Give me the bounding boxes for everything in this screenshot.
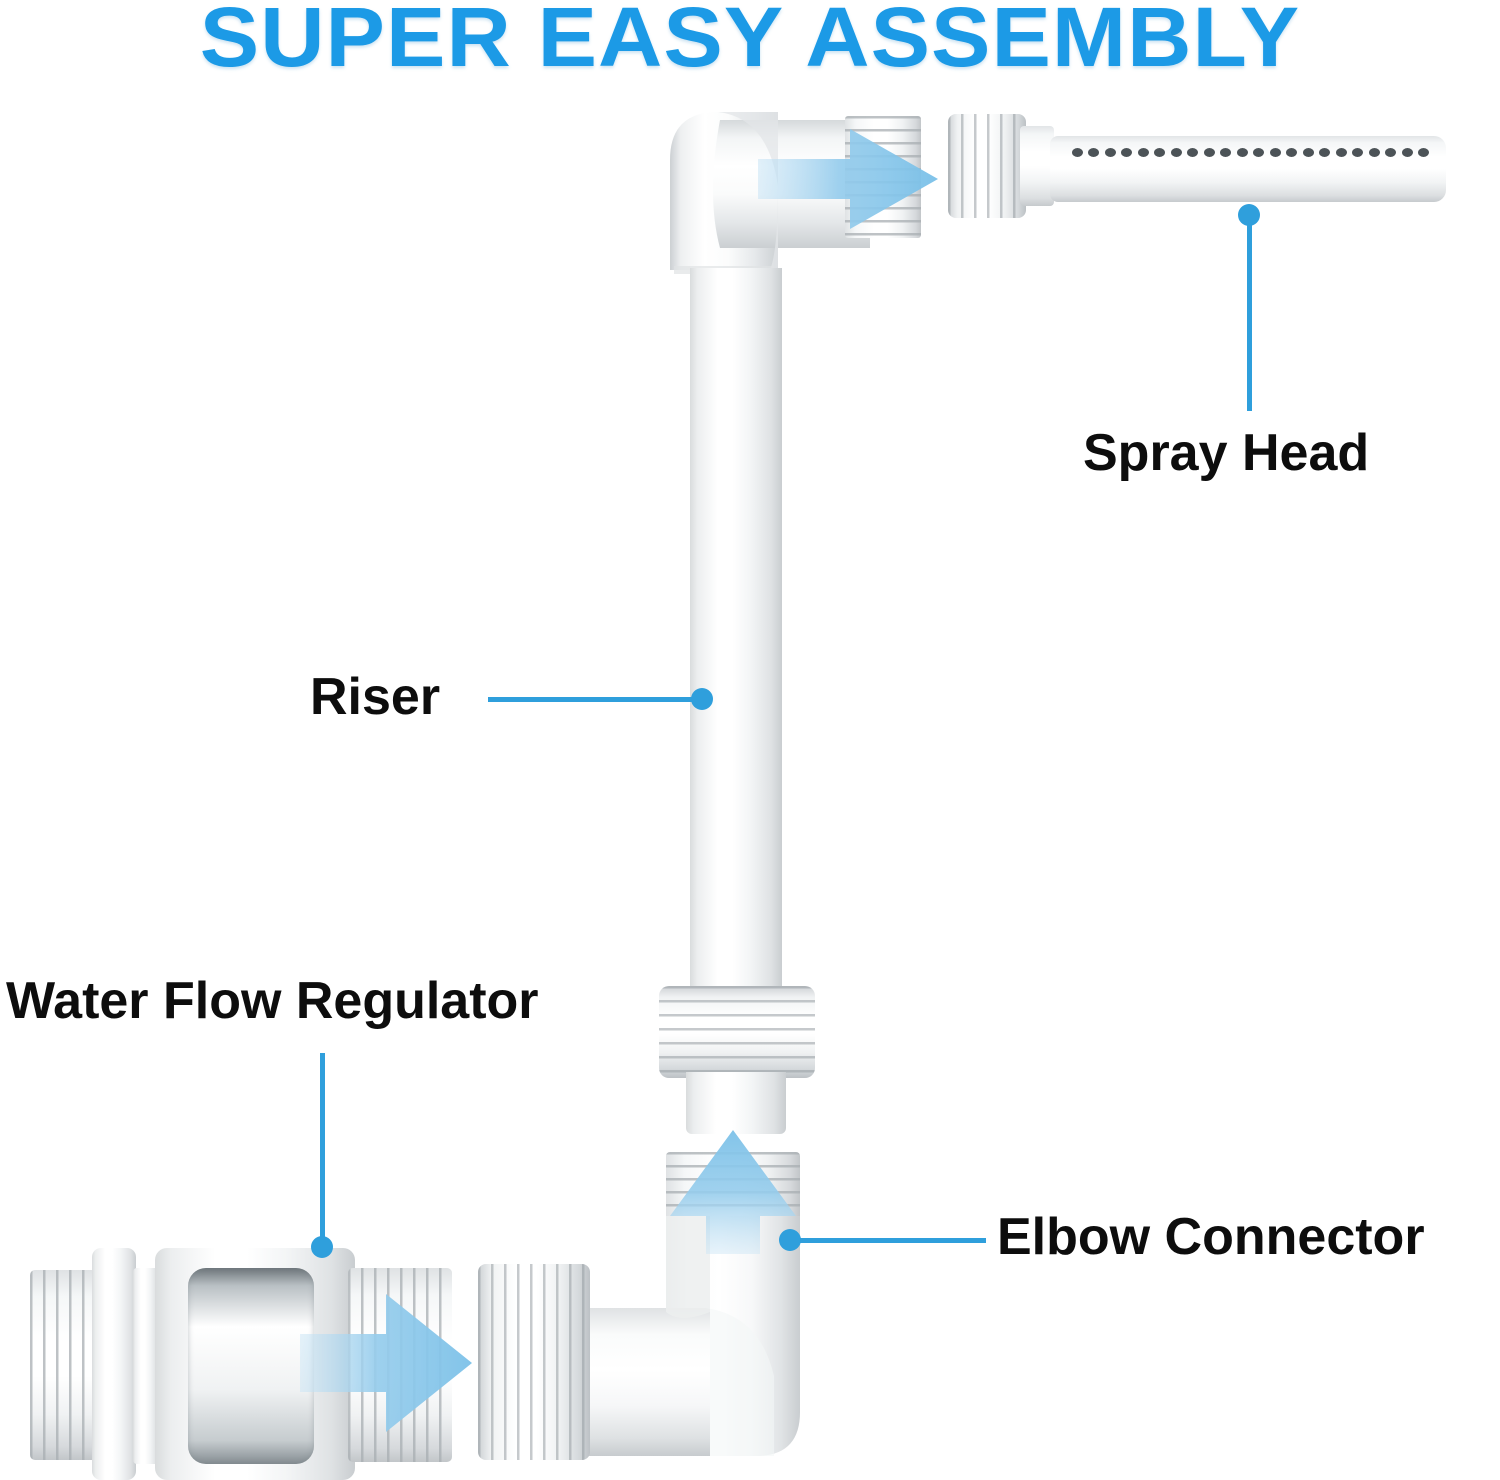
riser-pipe — [690, 268, 782, 990]
elbow-leader-dot — [779, 1229, 801, 1251]
regulator-window — [188, 1268, 314, 1464]
bottom-elbow-coupling-nut — [478, 1264, 590, 1460]
assembly-diagram: SUPER EASY ASSEMBLY — [0, 0, 1500, 1480]
spray-hole — [1237, 148, 1248, 157]
spray-hole — [1336, 148, 1347, 157]
spray-head-bar — [1050, 136, 1446, 202]
spray-hole — [1303, 148, 1314, 157]
riser-lower-stub — [686, 1072, 786, 1134]
spray-head-collar — [1020, 126, 1054, 206]
spray-head-coupling-nut — [948, 114, 1026, 218]
spray-hole — [1385, 148, 1396, 157]
spray-hole — [1352, 148, 1363, 157]
flow-arrow-up-riser — [670, 1130, 796, 1254]
label-spray-head: Spray Head — [1083, 424, 1369, 482]
spray-hole — [1171, 148, 1182, 157]
spray-head-leader-line — [1247, 215, 1252, 411]
regulator-leader-line — [320, 1053, 325, 1243]
spray-hole — [1105, 148, 1116, 157]
regulator-flange-ring — [92, 1248, 136, 1480]
label-elbow-connector: Elbow Connector — [997, 1208, 1425, 1266]
regulator-leader-dot — [311, 1236, 333, 1258]
label-riser: Riser — [310, 668, 440, 726]
page-title: SUPER EASY ASSEMBLY — [0, 0, 1500, 80]
spray-hole — [1418, 148, 1429, 157]
spray-hole — [1072, 148, 1083, 157]
spray-hole — [1270, 148, 1281, 157]
elbow-leader-line — [790, 1238, 986, 1243]
spray-hole — [1402, 148, 1413, 157]
bottom-elbow-connector — [560, 1216, 820, 1480]
label-water-flow-regulator: Water Flow Regulator — [6, 972, 539, 1030]
flow-arrow-right-top — [758, 125, 938, 233]
riser-leader-dot — [691, 688, 713, 710]
spray-head-leader-dot — [1238, 204, 1260, 226]
flow-arrow-right-regulator — [300, 1288, 472, 1438]
spray-hole — [1138, 148, 1149, 157]
riser-coupling-nut — [659, 986, 815, 1078]
spray-hole — [1204, 148, 1215, 157]
riser-leader-line — [488, 697, 700, 702]
spray-hole — [1369, 148, 1380, 157]
